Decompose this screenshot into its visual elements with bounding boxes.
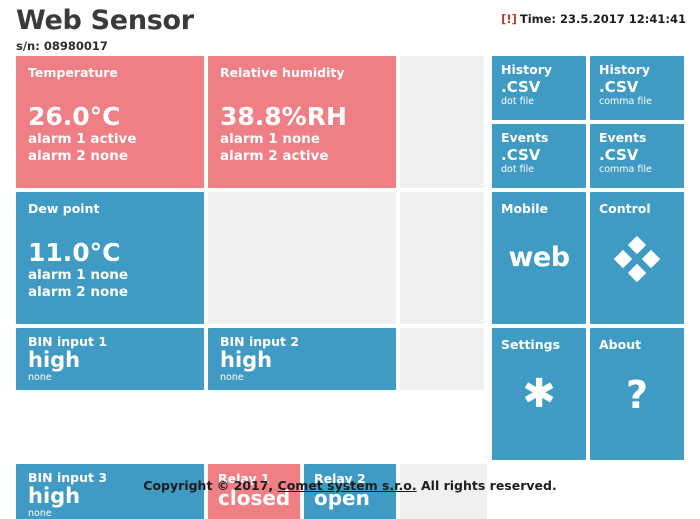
footer-copyright-prefix: Copyright © 2017, xyxy=(143,478,277,493)
button-about-title: About xyxy=(590,328,684,352)
tile-bin-input-2[interactable]: BIN input 2 high none xyxy=(208,328,396,390)
tile-temperature[interactable]: Temperature 26.0°C alarm 1 active alarm … xyxy=(16,56,204,188)
tile-bin-input-2-title: BIN input 2 xyxy=(208,328,396,349)
button-mobile-web-title: Mobile xyxy=(492,192,586,216)
tile-bin-input-1-title: BIN input 1 xyxy=(16,328,204,349)
tile-relative-humidity[interactable]: Relative humidity 38.8%RH alarm 1 none a… xyxy=(208,56,396,188)
button-mobile-web[interactable]: Mobile web xyxy=(492,192,586,324)
tile-relative-humidity-value: 38.8%RH xyxy=(208,102,396,131)
tile-temperature-alarm2: alarm 2 none xyxy=(16,148,204,165)
web-sensor-page: Web Sensor s/n: 08980017 [!]Time: 23.5.2… xyxy=(0,0,700,519)
action-group-row-1: History .CSV dot file Events .CSV dot fi… xyxy=(492,56,684,188)
tile-bin-input-1-value: high xyxy=(16,349,204,371)
page-header: Web Sensor s/n: 08980017 [!]Time: 23.5.2… xyxy=(0,0,700,56)
footer: Copyright © 2017, Comet system s.r.o. Al… xyxy=(0,478,700,493)
empty-tile-row-3 xyxy=(400,328,484,390)
button-history-csv-dot-note: dot file xyxy=(492,96,586,108)
button-control[interactable]: Control xyxy=(590,192,684,324)
dashboard-grid: Temperature 26.0°C alarm 1 active alarm … xyxy=(16,56,684,519)
tile-dew-point[interactable]: Dew point 11.0°C alarm 1 none alarm 2 no… xyxy=(16,192,204,324)
device-time-text: Time: 23.5.2017 12:41:41 xyxy=(520,12,686,26)
tile-temperature-value: 26.0°C xyxy=(16,102,204,131)
tile-bin-input-2-note: none xyxy=(208,371,396,383)
asterisk-settings-icon: ✱ xyxy=(492,374,586,414)
button-events-csv-dot-title: Events xyxy=(492,124,586,145)
dashboard-row-3: BIN input 1 high none BIN input 2 high n… xyxy=(16,328,684,460)
tile-relative-humidity-alarm2: alarm 2 active xyxy=(208,148,396,165)
question-mark-icon: ? xyxy=(590,376,684,414)
empty-tile-row-1 xyxy=(400,56,484,188)
empty-tile-row-2-col-2 xyxy=(208,192,396,324)
tile-relative-humidity-title: Relative humidity xyxy=(208,56,396,80)
tile-dew-point-title: Dew point xyxy=(16,192,204,216)
empty-tile-row-2-col-3 xyxy=(400,192,484,324)
tile-temperature-alarm1: alarm 1 active xyxy=(16,131,204,148)
button-events-csv-comma[interactable]: Events .CSV comma file xyxy=(590,124,684,188)
dashboard-row-2: Dew point 11.0°C alarm 1 none alarm 2 no… xyxy=(16,192,684,324)
footer-copyright-suffix: All rights reserved. xyxy=(417,478,557,493)
dashboard-row-1: Temperature 26.0°C alarm 1 active alarm … xyxy=(16,56,684,188)
button-events-csv-comma-note: comma file xyxy=(590,164,684,176)
tile-bin-input-1[interactable]: BIN input 1 high none xyxy=(16,328,204,390)
button-history-csv-comma[interactable]: History .CSV comma file xyxy=(590,56,684,120)
button-history-csv-comma-title: History xyxy=(590,56,684,77)
csv-file-icon: .CSV xyxy=(492,77,586,96)
alert-icon: [!] xyxy=(501,12,517,26)
tile-relative-humidity-alarm1: alarm 1 none xyxy=(208,131,396,148)
button-history-csv-dot-title: History xyxy=(492,56,586,77)
button-control-title: Control xyxy=(590,192,684,216)
csv-file-icon: .CSV xyxy=(590,145,684,164)
button-about[interactable]: About ? xyxy=(590,328,684,460)
tile-dew-point-alarm1: alarm 1 none xyxy=(16,267,204,284)
sensor-group-row-2: Dew point 11.0°C alarm 1 none alarm 2 no… xyxy=(16,192,396,324)
sensor-group-row-1: Temperature 26.0°C alarm 1 active alarm … xyxy=(16,56,396,188)
tile-temperature-title: Temperature xyxy=(16,56,204,80)
button-events-csv-dot[interactable]: Events .CSV dot file xyxy=(492,124,586,188)
mobile-web-icon: web xyxy=(492,244,586,271)
action-group-row-3: Settings ✱ About ? xyxy=(492,328,684,460)
footer-company-link[interactable]: Comet system s.r.o. xyxy=(278,478,417,493)
button-events-csv-comma-title: Events xyxy=(590,124,684,145)
tile-bin-input-1-note: none xyxy=(16,371,204,383)
action-group-row-2: Mobile web Control xyxy=(492,192,684,324)
button-events-csv-dot-note: dot file xyxy=(492,164,586,176)
tile-bin-input-3-note: none xyxy=(16,507,204,519)
button-settings-title: Settings xyxy=(492,328,586,352)
tile-dew-point-value: 11.0°C xyxy=(16,238,204,267)
tile-dew-point-alarm2: alarm 2 none xyxy=(16,284,204,301)
csv-file-icon: .CSV xyxy=(590,77,684,96)
csv-file-icon: .CSV xyxy=(492,145,586,164)
button-history-csv-comma-note: comma file xyxy=(590,96,684,108)
four-diamonds-icon xyxy=(590,236,684,285)
device-time: [!]Time: 23.5.2017 12:41:41 xyxy=(501,12,686,26)
button-settings[interactable]: Settings ✱ xyxy=(492,328,586,460)
button-history-csv-dot[interactable]: History .CSV dot file xyxy=(492,56,586,120)
bin-group-row-3: BIN input 1 high none BIN input 2 high n… xyxy=(16,328,396,460)
tile-bin-input-2-value: high xyxy=(208,349,396,371)
serial-number: s/n: 08980017 xyxy=(16,39,686,53)
